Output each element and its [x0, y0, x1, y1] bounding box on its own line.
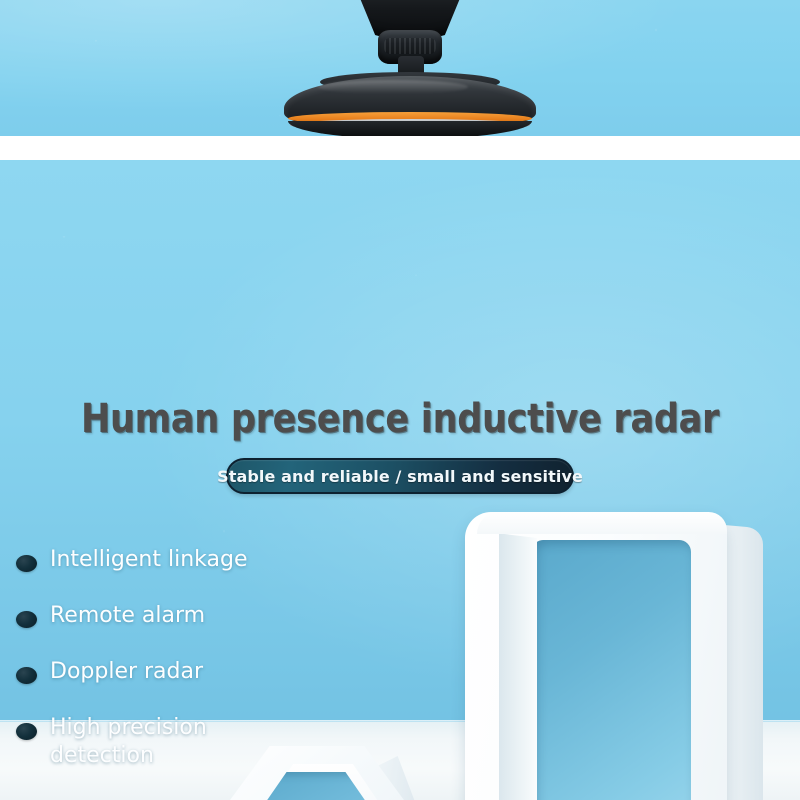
list-item: Intelligent linkage	[0, 546, 320, 574]
rect-frame-cavity	[533, 540, 691, 800]
page-title: Human presence inductive radar	[12, 396, 788, 442]
list-item: High precision detection	[0, 714, 320, 770]
device-base	[288, 121, 532, 136]
device-highlight	[318, 80, 468, 94]
product-poster: Human presence inductive radar Stable an…	[0, 0, 800, 800]
feature-label: High precision detection	[50, 714, 290, 770]
feature-label: Remote alarm	[50, 602, 205, 630]
bullet-dot-icon	[16, 611, 37, 628]
bullet-dot-icon	[16, 667, 37, 684]
panel-divider	[0, 136, 800, 160]
list-item: Doppler radar	[0, 658, 320, 686]
list-item: Remote alarm	[0, 602, 320, 630]
rect-frame-inner-left-wall	[499, 533, 537, 800]
feature-list: Intelligent linkage Remote alarm Doppler…	[0, 546, 320, 798]
main-panel: Human presence inductive radar Stable an…	[0, 160, 800, 800]
rect-frame-top-face	[477, 512, 727, 534]
subtitle-badge: Stable and reliable / small and sensitiv…	[226, 458, 574, 494]
feature-label: Intelligent linkage	[50, 546, 248, 574]
subtitle-badge-label: Stable and reliable / small and sensitiv…	[217, 467, 583, 486]
feature-label: Doppler radar	[50, 658, 203, 686]
top-hero-panel	[0, 0, 800, 136]
bullet-dot-icon	[16, 555, 37, 572]
white-rectangular-frame	[455, 512, 775, 800]
bullet-dot-icon	[16, 723, 37, 740]
